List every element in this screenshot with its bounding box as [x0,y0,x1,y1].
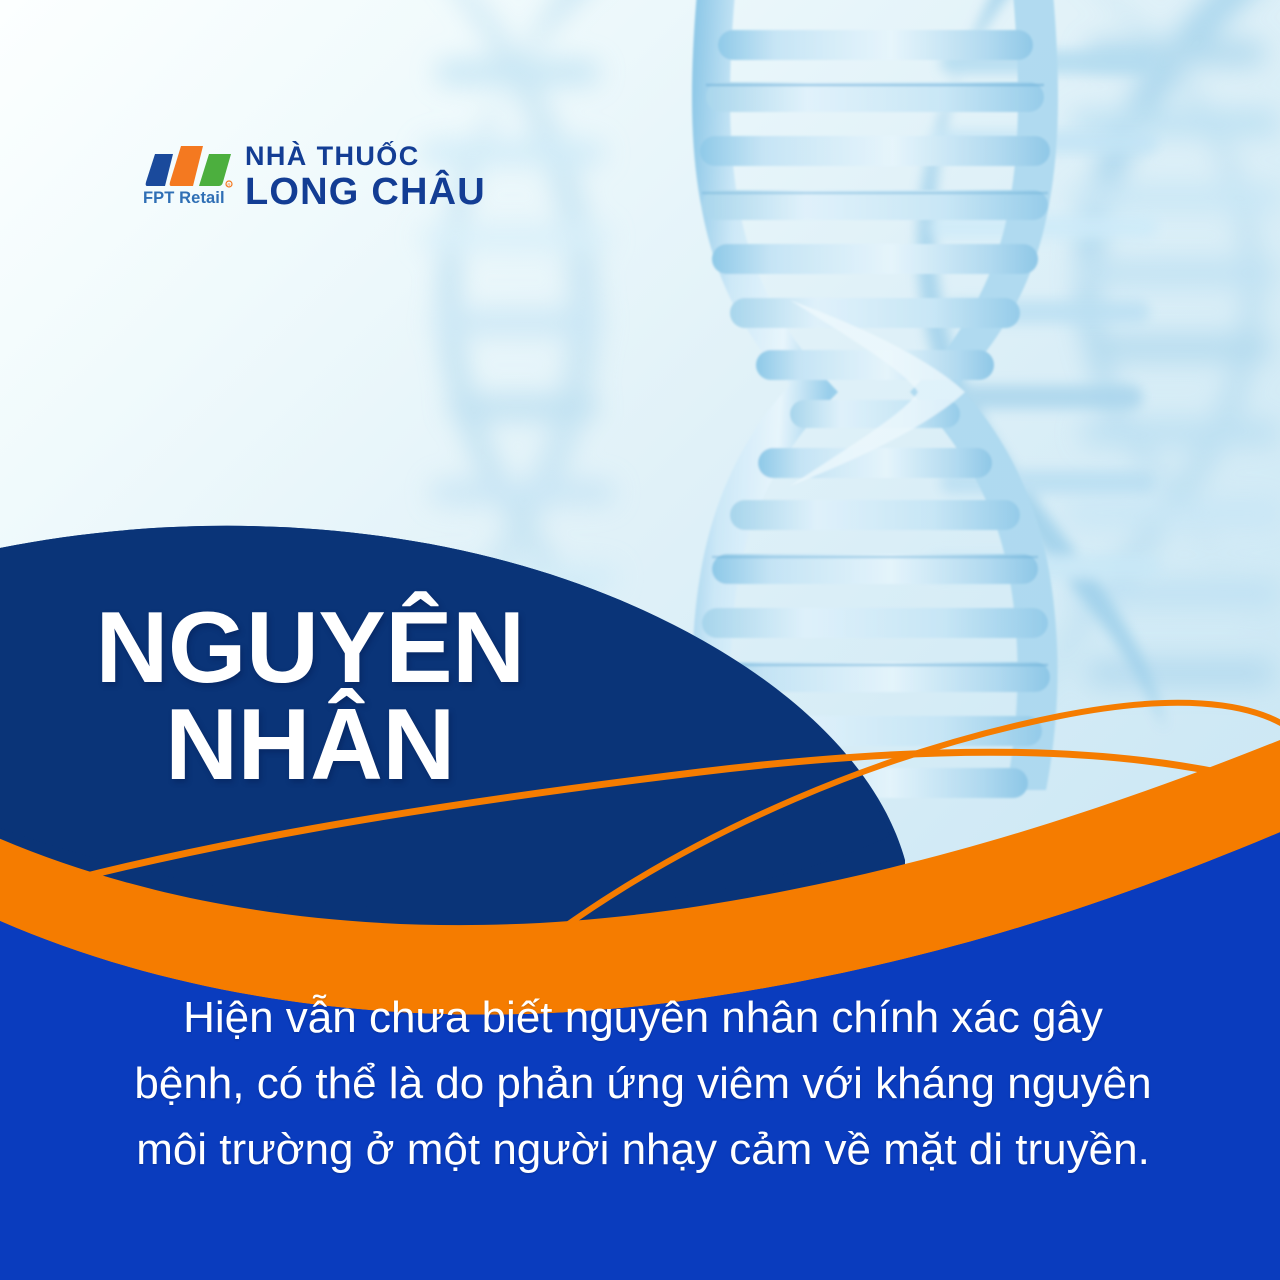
headline-line-2: NHÂN [0,697,620,794]
svg-text:R: R [227,182,230,187]
brand-logo: R FPT Retail NHÀ THUỐC LONG CHÂU [143,140,486,216]
body-line-1: Hiện vẫn chưa biết nguyên nhân chính xác… [112,985,1174,1051]
headline: NGUYÊN NHÂN [0,600,620,794]
body-copy: Hiện vẫn chưa biết nguyên nhân chính xác… [112,985,1174,1183]
body-line-2: bệnh, có thể là do phản ứng viêm với khá… [112,1051,1174,1117]
brand-wordmark: NHÀ THUỐC LONG CHÂU [245,140,486,213]
fpt-logo-shapes: R [143,140,235,192]
fpt-retail-label: FPT Retail [143,190,235,207]
brand-line-nha-thuoc: NHÀ THUỐC [245,142,486,170]
brand-line-long-chau: LONG CHÂU [245,172,486,213]
fpt-logo-mark: R FPT Retail [143,140,231,216]
poster-canvas: R FPT Retail NHÀ THUỐC LONG CHÂU NGUYÊN … [0,0,1280,1280]
body-line-3: môi trường ở một người nhạy cảm về mặt d… [112,1117,1174,1183]
headline-line-1: NGUYÊN [95,592,524,704]
